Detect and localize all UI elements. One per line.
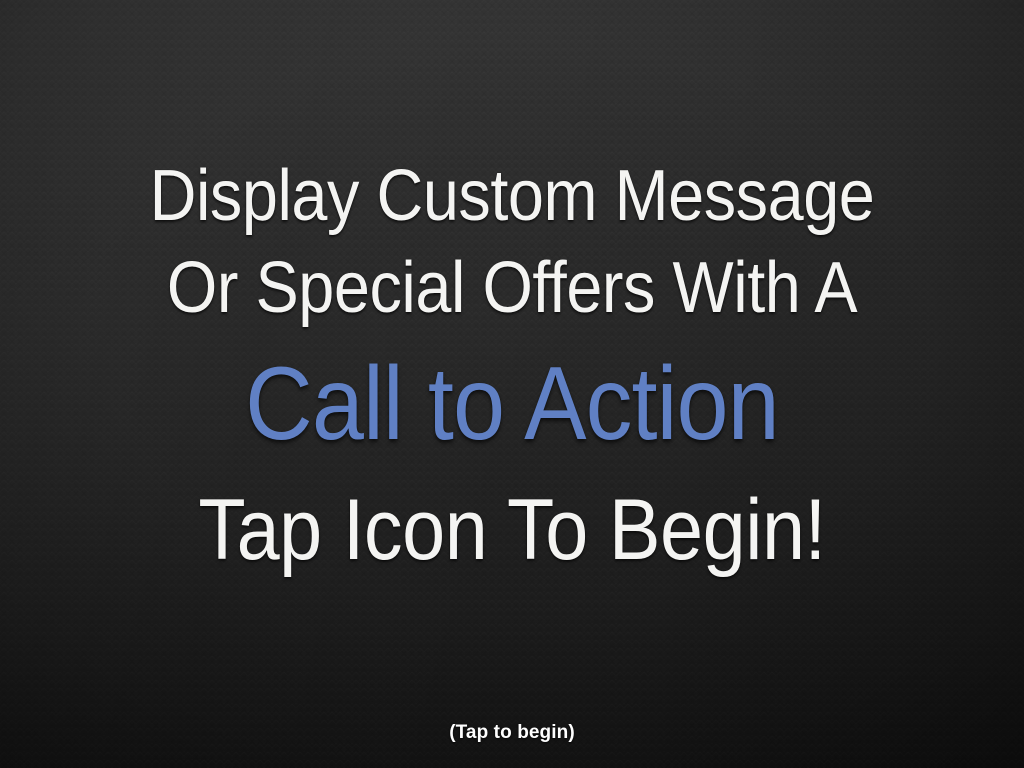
tap-to-begin-hint[interactable]: (Tap to begin)	[0, 722, 1024, 744]
custom-message-block: Display Custom Message Or Special Offers…	[0, 150, 1024, 586]
message-line-1: Display Custom Message	[51, 150, 973, 242]
splash-screen[interactable]: Display Custom Message Or Special Offers…	[0, 0, 1024, 768]
message-line-4: Tap Icon To Begin!	[51, 474, 973, 586]
message-line-2: Or Special Offers With A	[51, 242, 973, 334]
call-to-action-headline[interactable]: Call to Action	[51, 334, 973, 474]
